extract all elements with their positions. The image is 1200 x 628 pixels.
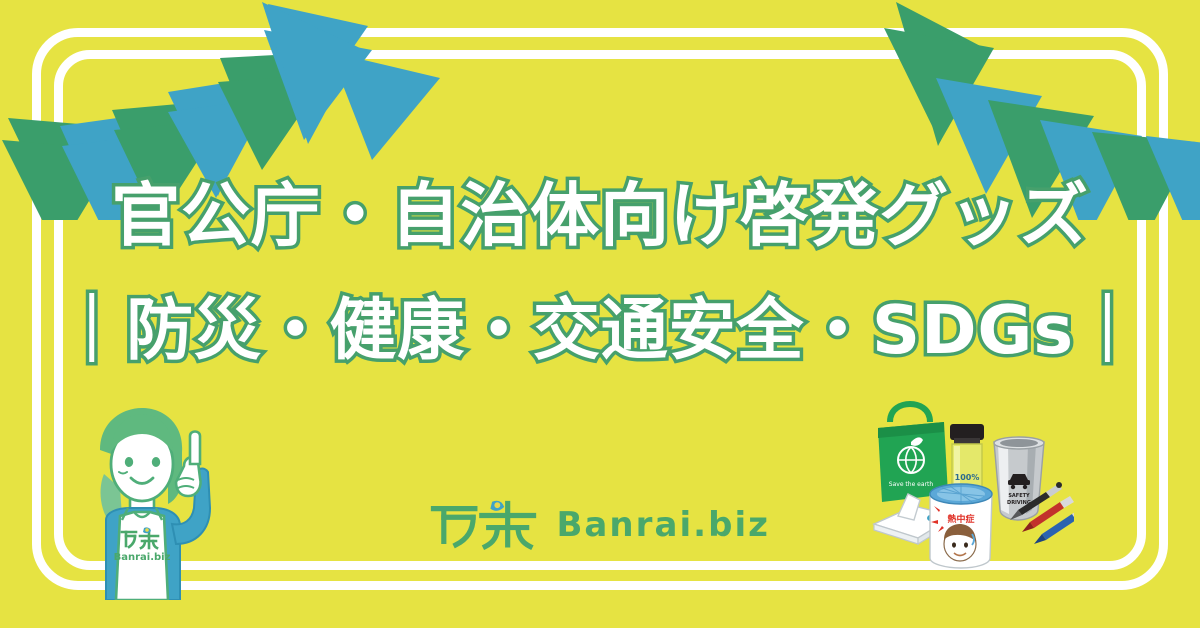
stainless-tumbler-graphic: SAFETY DRIVING: [994, 437, 1044, 520]
headline-line-2: ｜防災・健康・交通安全・SDGs｜: [0, 282, 1200, 378]
headline-block: 官公庁・自治体向け啓発グッズ ｜防災・健康・交通安全・SDGs｜: [0, 168, 1200, 378]
svg-text:SAFETY: SAFETY: [1008, 493, 1030, 499]
product-label-tumbler: SAFETY: [0, 0, 1, 1]
product-label-tote: Save the earth: [0, 0, 1, 1]
product-label-can: 熱中症対策: [0, 0, 1, 1]
brand-wordmark: Banrai.biz: [556, 505, 770, 545]
svg-text:100%: 100%: [955, 473, 980, 482]
headline-line-1: 官公庁・自治体向け啓発グッズ: [0, 168, 1200, 264]
character-illustration: Banrai.biz: [72, 404, 214, 600]
brand-logo: Banrai.biz: [430, 489, 770, 561]
banrai-logo-mark: [430, 496, 540, 554]
svg-text:Save the earth: Save the earth: [889, 481, 934, 488]
character-apron-label: Banrai.biz: [0, 0, 1, 1]
awareness-can-graphic: 熱中症: [930, 484, 992, 568]
promo-banner: 官公庁・自治体向け啓発グッズ ｜防災・健康・交通安全・SDGs｜: [0, 0, 1200, 628]
product-label-bottle: RECYCLE: [0, 0, 1, 1]
svg-text:Banrai.biz: Banrai.biz: [114, 552, 171, 563]
svg-text:熱中症: 熱中症: [947, 513, 974, 525]
product-cluster: Save the earth 100% RECYCLE PLASTIC: [868, 398, 1074, 570]
